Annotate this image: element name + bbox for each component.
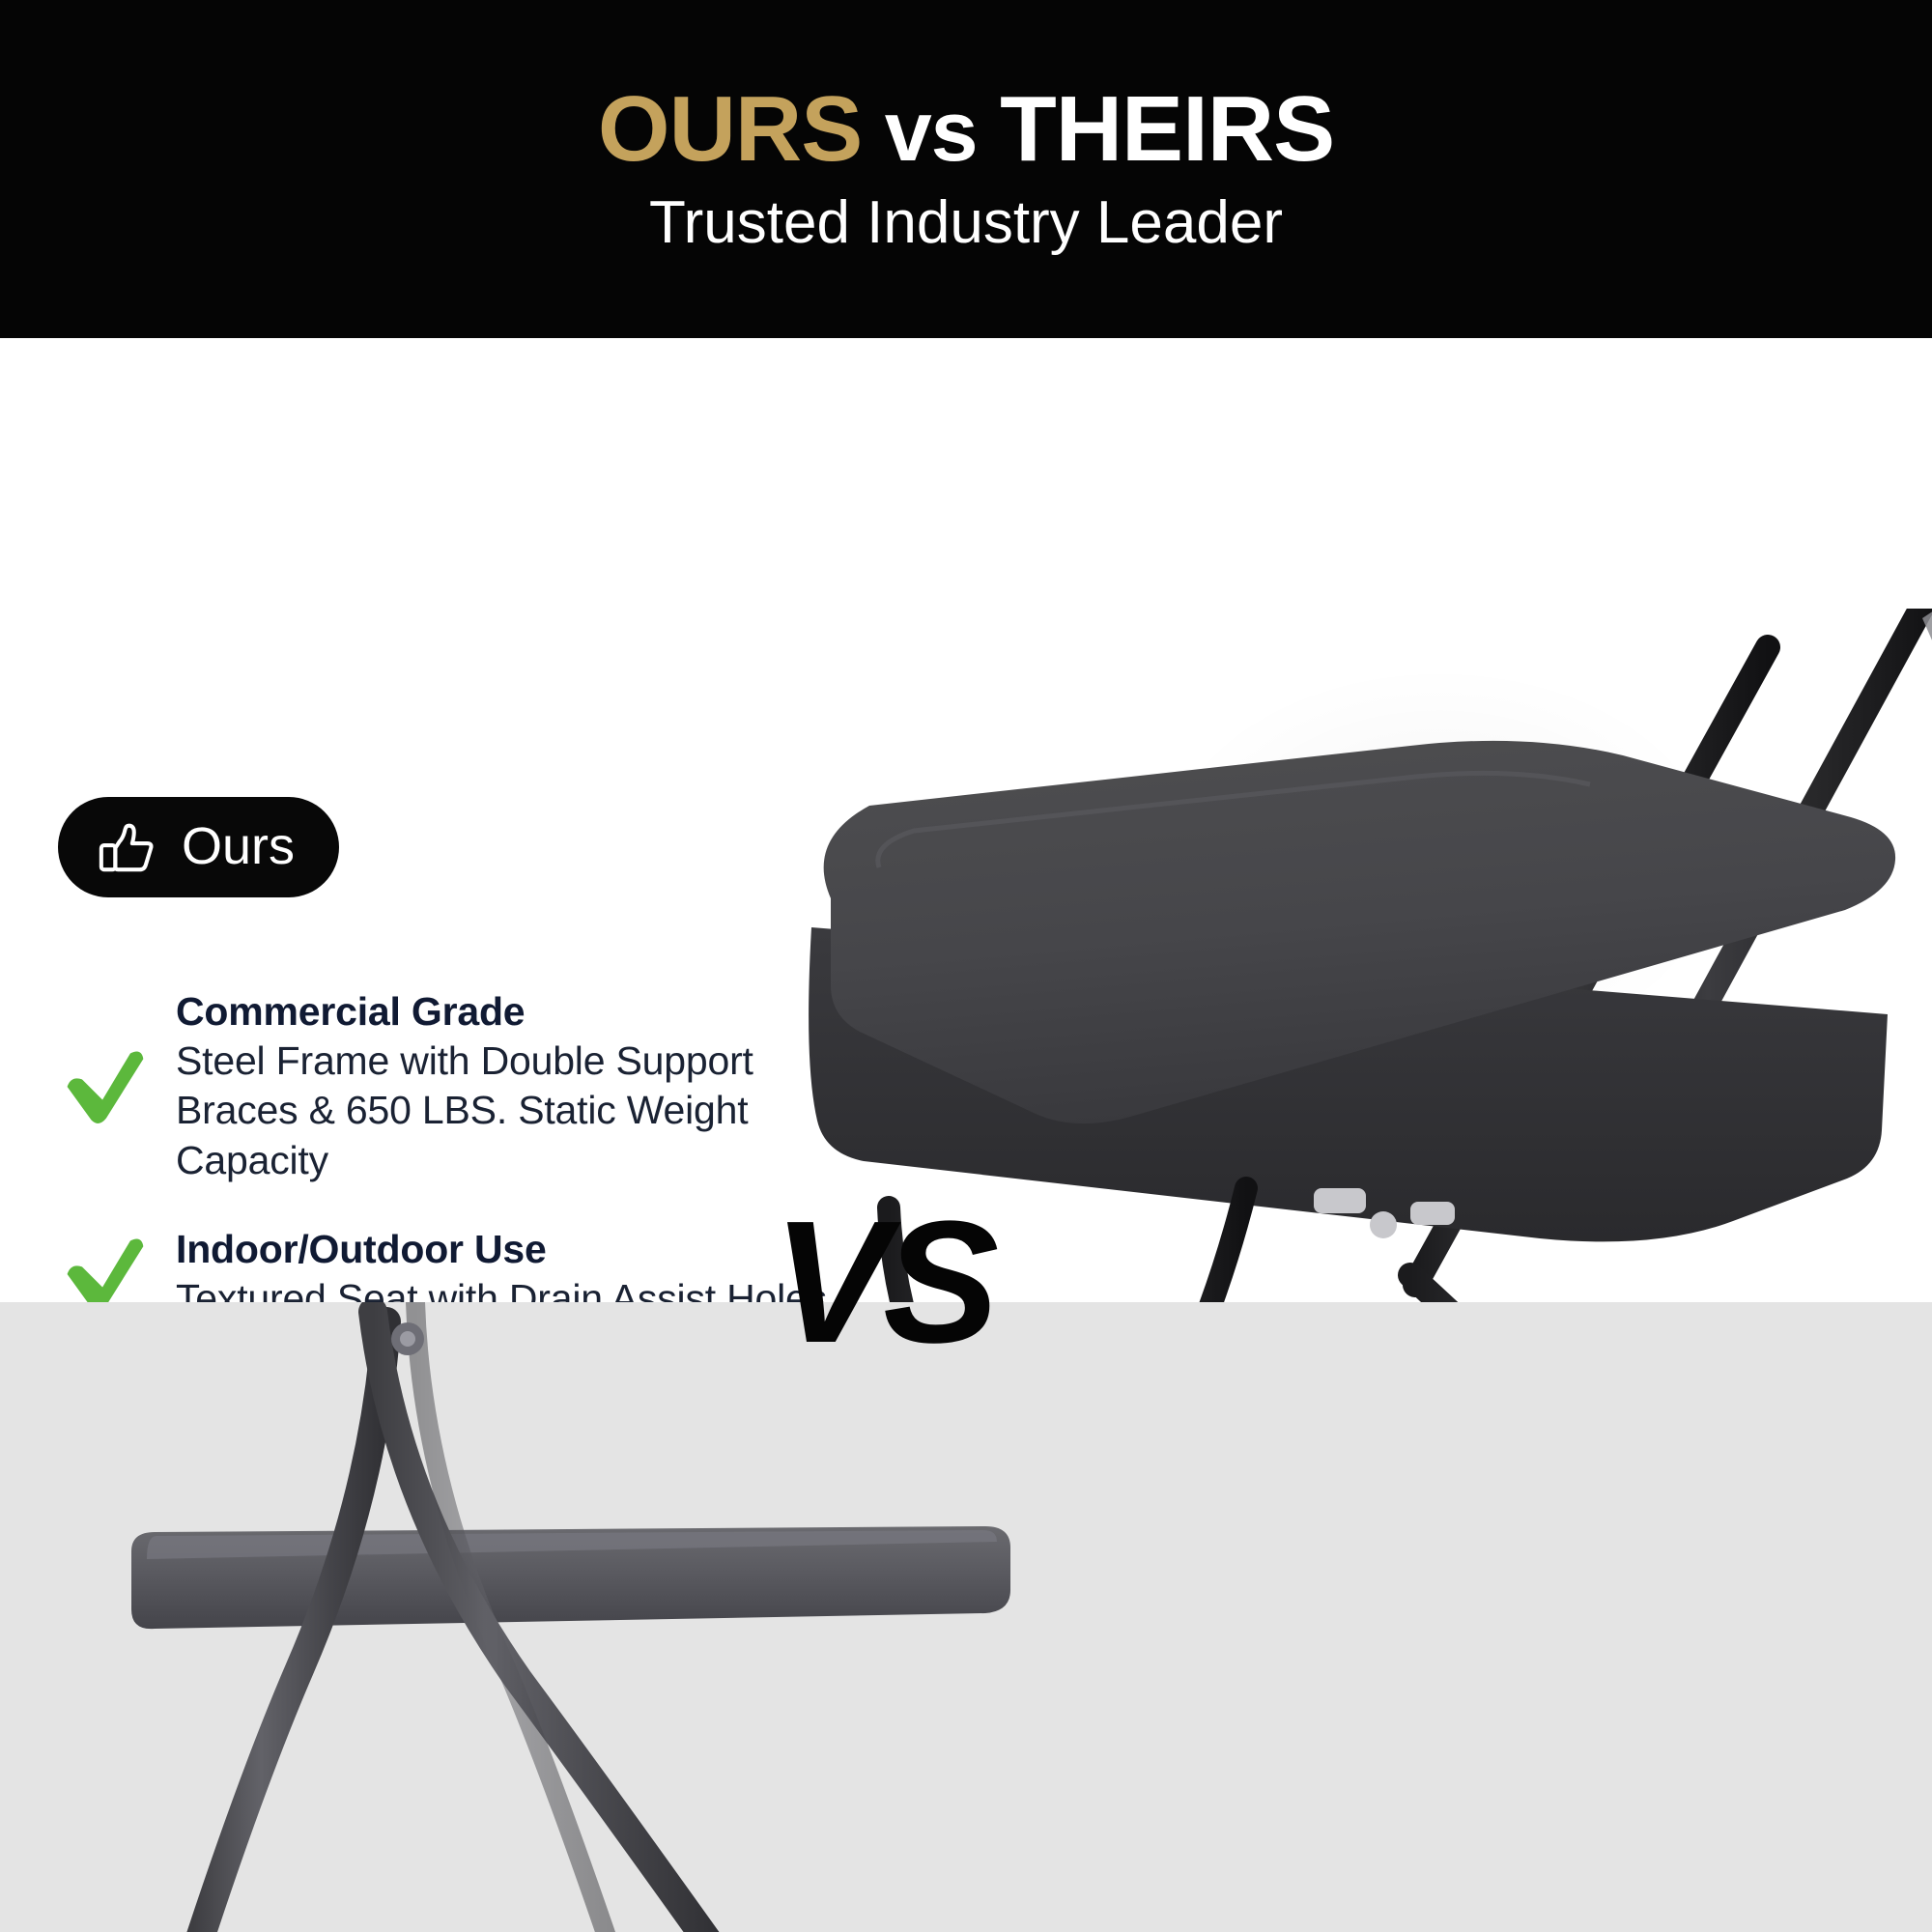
page-subtitle: Trusted Industry Leader: [649, 190, 1283, 256]
list-item: Indoor/Outdoor Use Textured Seat with Dr…: [58, 1225, 831, 1302]
green-check-icon: [58, 1228, 151, 1302]
title-vs: vs: [885, 83, 978, 179]
page-title: OURS vs THEIRS: [598, 82, 1334, 177]
green-check-icon: [58, 1040, 151, 1133]
thumbs-up-icon: [97, 816, 156, 876]
header-band: OURS vs THEIRS Trusted Industry Leader: [0, 0, 1932, 338]
feature-body: Textured Seat with Drain Assist Holes: [176, 1274, 831, 1302]
vs-label: VS: [773, 1196, 993, 1370]
feature-heading: Commercial Grade: [176, 987, 831, 1037]
comparison-infographic: OURS vs THEIRS Trusted Industry Leader: [0, 0, 1932, 1932]
title-ours: OURS: [598, 77, 862, 181]
theirs-panel: Theirs Residential Grade Less than 350 L…: [0, 1302, 1932, 1932]
list-item: Commercial Grade Steel Frame with Double…: [58, 987, 831, 1186]
ours-panel: Ours Commercial Grade Steel Frame with D…: [0, 338, 1932, 1302]
title-theirs: THEIRS: [1000, 77, 1334, 181]
ours-badge[interactable]: Ours: [58, 797, 339, 897]
ours-badge-label: Ours: [182, 820, 295, 872]
ours-feature-list: Commercial Grade Steel Frame with Double…: [58, 987, 831, 1302]
feature-body: Steel Frame with Double Support Braces &…: [176, 1037, 831, 1186]
feature-heading: Indoor/Outdoor Use: [176, 1225, 831, 1274]
theirs-chair-image: [97, 1302, 1179, 1932]
